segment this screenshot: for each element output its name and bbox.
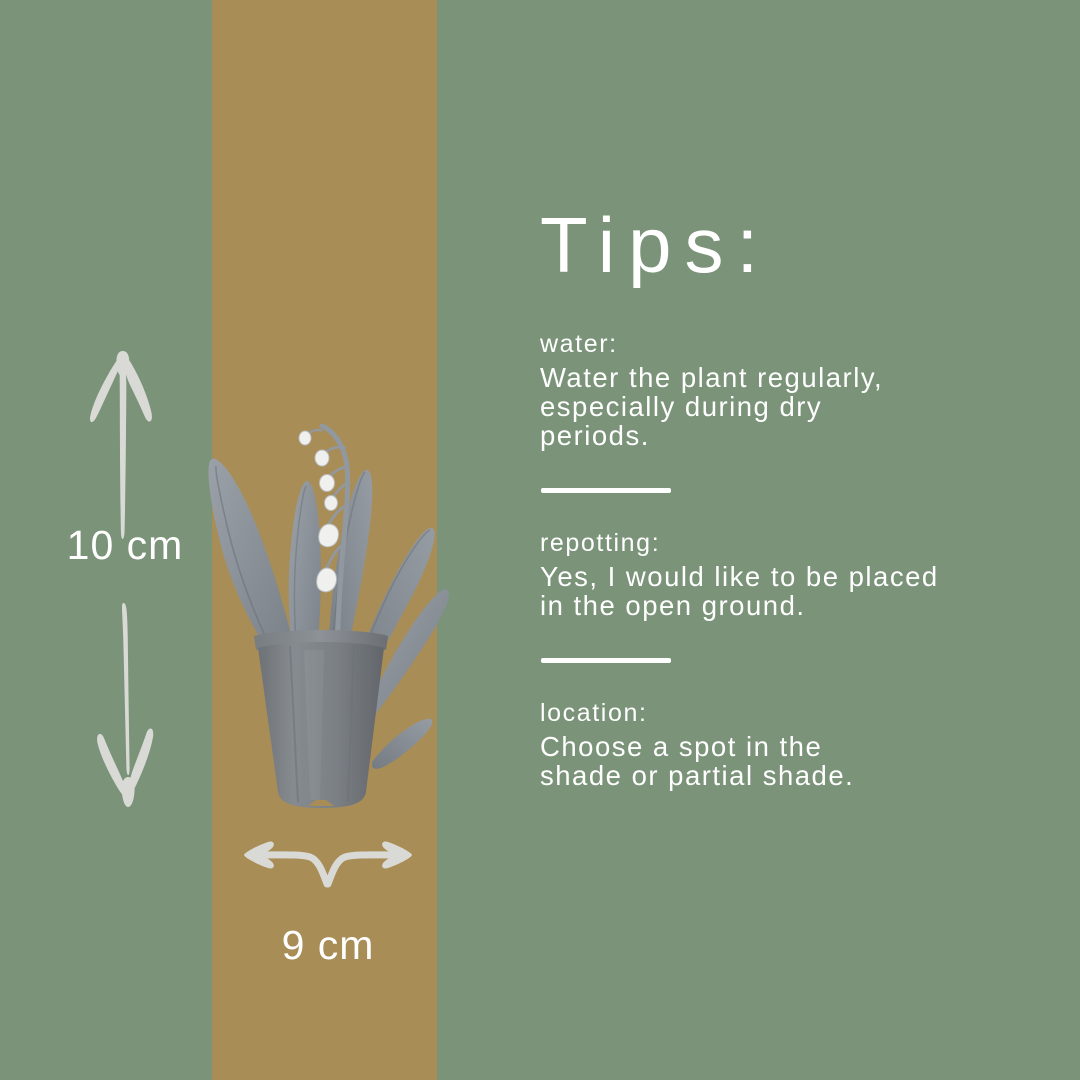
tip-label-water: water: (540, 330, 1040, 359)
plant-product-image (186, 330, 456, 820)
tips-heading: Tips: (540, 206, 1040, 284)
tip-divider-1 (541, 488, 671, 493)
height-arrow-icon (78, 335, 170, 820)
plant-care-infographic: 10 cm (0, 0, 1080, 1080)
tip-divider-2 (541, 658, 671, 663)
width-arrow-icon (238, 838, 418, 904)
tip-item-water: water: Water the plant regularly, especi… (540, 330, 1040, 450)
tip-label-location: location: (540, 699, 1040, 728)
tip-item-location: location: Choose a spot in the shade or … (540, 699, 1040, 790)
tips-panel: Tips: water: Water the plant regularly, … (540, 206, 1040, 790)
tip-body-repotting: Yes, I would like to be placed in the op… (540, 562, 1040, 620)
tip-label-repotting: repotting: (540, 529, 1040, 558)
tip-item-repotting: repotting: Yes, I would like to be place… (540, 529, 1040, 620)
tip-body-water: Water the plant regularly, especially du… (540, 363, 1040, 450)
tip-body-location: Choose a spot in the shade or partial sh… (540, 732, 1040, 790)
width-measurement-label: 9 cm (233, 925, 423, 966)
